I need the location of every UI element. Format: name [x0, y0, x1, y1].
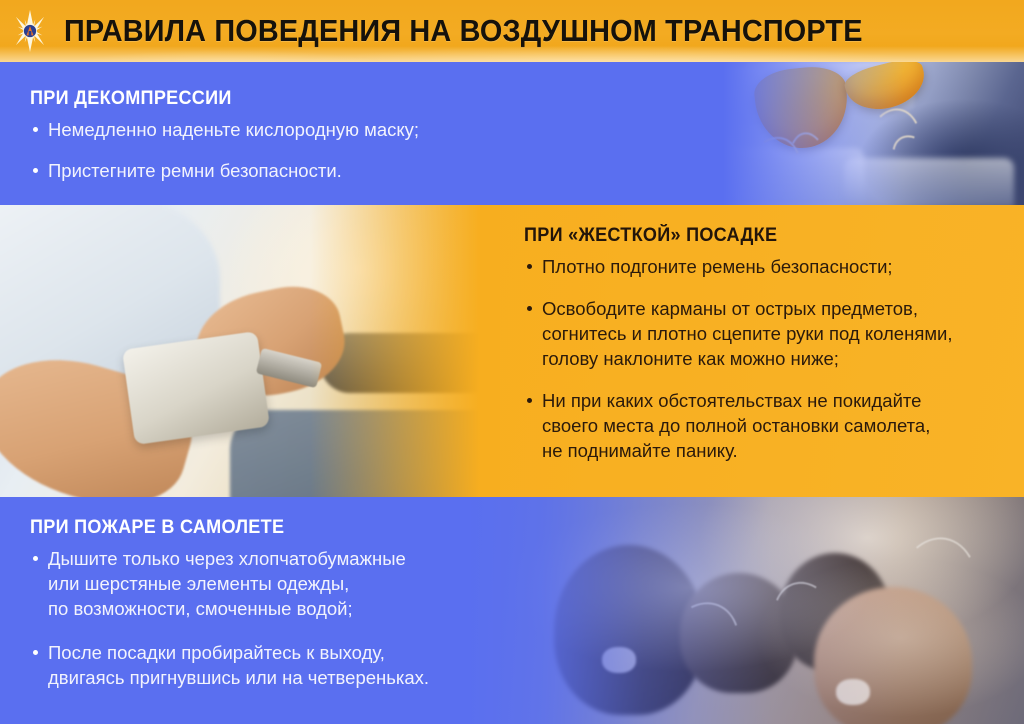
hard-landing-text-block: ПРИ «ЖЕСТКОЙ» ПОСАДКЕ Плотно подгоните р… [524, 225, 953, 480]
photo-oxygen-masks [594, 62, 1024, 205]
list-item: После посадки пробирайтесь к выходу, дви… [30, 640, 429, 690]
page-title: ПРАВИЛА ПОВЕДЕНИЯ НА ВОЗДУШНОМ ТРАНСПОРТ… [64, 0, 953, 62]
list-item: Немедленно наденьте кислородную маску; [30, 117, 419, 142]
section-decompression: ПРИ ДЕКОМПРЕССИИ Немедленно наденьте кис… [0, 62, 1024, 205]
list-item: Ни при каких обстоятельствах не покидайт… [524, 388, 953, 463]
section-fire-onboard: ПРИ ПОЖАРЕ В САМОЛЕТЕ Дышите только чере… [0, 497, 1024, 724]
photo-fade-overlay [0, 205, 500, 497]
decompression-text-block: ПРИ ДЕКОМПРЕССИИ Немедленно наденьте кис… [30, 88, 419, 199]
section-hard-landing: ПРИ «ЖЕСТКОЙ» ПОСАДКЕ Плотно подгоните р… [0, 205, 1024, 497]
photo-fade-overlay [464, 497, 1024, 724]
decompression-bullet-list: Немедленно наденьте кислородную маску; П… [30, 117, 419, 183]
photo-fastening-seatbelt [0, 205, 500, 497]
section-heading-hard-landing: ПРИ «ЖЕСТКОЙ» ПОСАДКЕ [524, 225, 931, 247]
emercom-star-logo [8, 9, 52, 53]
list-item: Освободите карманы от острых предметов, … [524, 296, 953, 371]
section-heading-fire-onboard: ПРИ ПОЖАРЕ В САМОЛЕТЕ [30, 517, 409, 539]
section-heading-decompression: ПРИ ДЕКОМПРЕССИИ [30, 88, 400, 110]
list-item: Дышите только через хлопчатобумажные или… [30, 546, 429, 621]
fire-onboard-text-block: ПРИ ПОЖАРЕ В САМОЛЕТЕ Дышите только чере… [30, 517, 429, 709]
list-item: Пристегните ремни безопасности. [30, 158, 419, 183]
poster-header: ПРАВИЛА ПОВЕДЕНИЯ НА ВОЗДУШНОМ ТРАНСПОРТ… [0, 0, 1024, 62]
photo-smoke-cabin [464, 497, 1024, 724]
infographic-poster: ПРАВИЛА ПОВЕДЕНИЯ НА ВОЗДУШНОМ ТРАНСПОРТ… [0, 0, 1024, 724]
hard-landing-bullet-list: Плотно подгоните ремень безопасности; Ос… [524, 254, 953, 463]
fire-onboard-bullet-list: Дышите только через хлопчатобумажные или… [30, 546, 429, 690]
photo-fade-overlay [594, 62, 1024, 205]
list-item: Плотно подгоните ремень безопасности; [524, 254, 953, 279]
